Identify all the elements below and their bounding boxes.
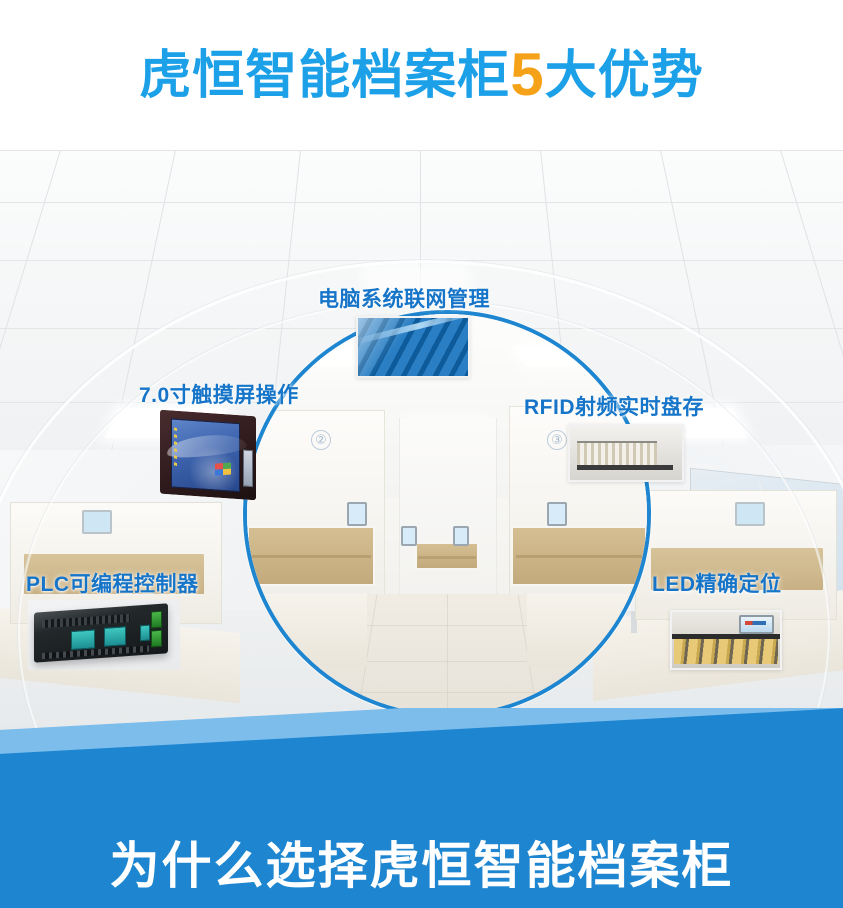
feature-label-computer-network-management: 电脑系统联网管理: [318, 283, 490, 313]
page-title: 虎恒智能档案柜5大优势: [139, 45, 703, 105]
feature-thumb-plc: [28, 600, 180, 670]
feature-thumb-touchscreen: [160, 410, 256, 501]
page-title-suffix: 大优势: [545, 47, 704, 105]
cabinet-shelf-far: [415, 542, 479, 570]
cabinet-number-3: ③: [547, 430, 567, 450]
cabinet-display-left: [82, 510, 112, 534]
room-ceiling-light: [513, 346, 621, 366]
page-header: 虎恒智能档案柜5大优势: [0, 0, 843, 150]
workstation-right: [527, 594, 631, 666]
feature-thumb-rfid: [568, 424, 684, 482]
promo-page: 虎恒智能档案柜5大优势: [0, 0, 843, 908]
cabinet-panel-far-a: [401, 526, 417, 546]
cabinet-shelf-left: [247, 526, 375, 586]
feature-label-rfid: RFID射频实时盘存: [524, 391, 704, 421]
cabinet-display-right: [735, 502, 765, 526]
cabinet-shelf-right: [511, 526, 647, 586]
feature-thumb-led: [670, 610, 782, 670]
workstation-left: [263, 594, 367, 666]
feature-label-led: LED精确定位: [652, 568, 782, 598]
banner-title: 为什么选择虎恒智能档案柜: [0, 839, 843, 894]
cabinet-panel-right: [547, 502, 567, 526]
feature-thumb-computer-network-management: [356, 316, 470, 378]
cabinet-number-2: ②: [311, 430, 331, 450]
cabinet-panel-left: [347, 502, 367, 526]
page-title-prefix: 虎恒智能档案柜: [139, 47, 510, 105]
feature-label-touchscreen: 7.0寸触摸屏操作: [139, 379, 299, 409]
cabinet-panel-far-b: [453, 526, 469, 546]
bottom-banner: 为什么选择虎恒智能档案柜: [0, 708, 843, 908]
feature-label-plc: PLC可编程控制器: [26, 568, 199, 598]
page-title-number: 5: [510, 41, 544, 108]
